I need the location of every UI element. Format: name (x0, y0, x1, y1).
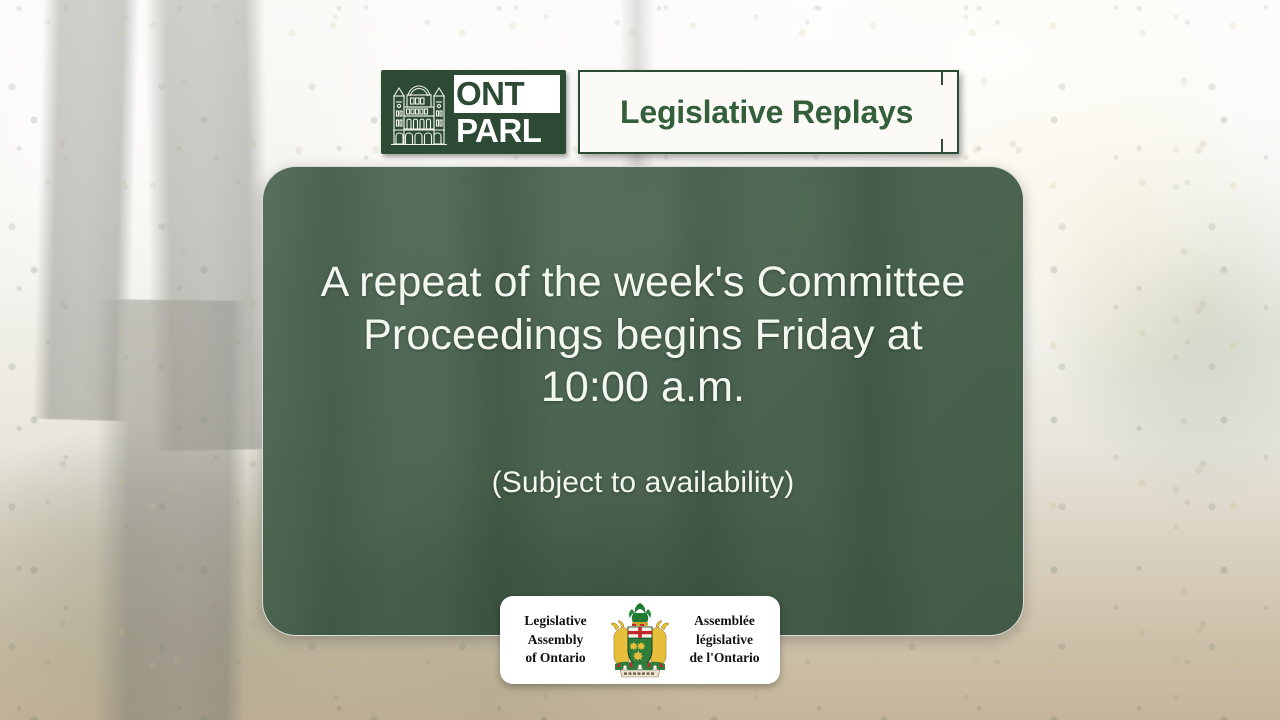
ontparl-wordmark: ONT PARL (454, 75, 560, 149)
queens-park-building-icon (388, 75, 450, 149)
ontario-coat-of-arms-icon (607, 600, 673, 680)
legislative-assembly-card: Legislative Assembly of Ontario (500, 596, 780, 684)
assembly-name-english: Legislative Assembly of Ontario (510, 612, 601, 667)
assembly-name-french: Assemblée législative de l'Ontario (679, 612, 770, 667)
message-headline: A repeat of the week's Committee Proceed… (313, 256, 973, 415)
slate-header: ONT PARL Legislative Replays (381, 70, 959, 154)
message-panel: A repeat of the week's Committee Proceed… (262, 166, 1024, 636)
message-subnote: (Subject to availability) (492, 466, 795, 500)
page-title: Legislative Replays (620, 94, 913, 131)
ontparl-logo: ONT PARL (381, 70, 566, 154)
broadcast-slate: ONT PARL Legislative Replays A repeat of… (0, 0, 1280, 720)
message-panel-content: A repeat of the week's Committee Proceed… (263, 167, 1023, 635)
title-plate: Legislative Replays (578, 70, 959, 154)
brand-line-parl: PARL (454, 113, 560, 149)
brand-line-ont: ONT (454, 75, 560, 113)
